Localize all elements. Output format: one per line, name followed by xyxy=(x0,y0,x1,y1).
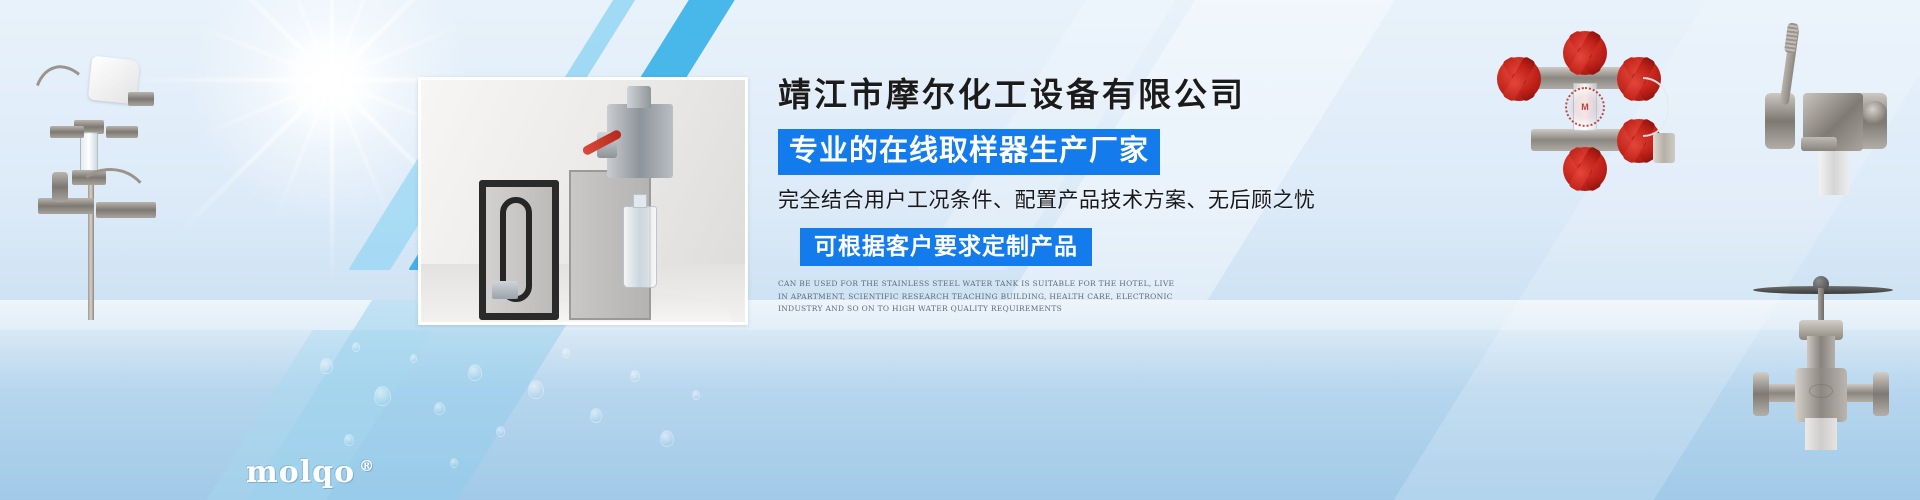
company-name: 靖江市摩尔化工设备有限公司 xyxy=(778,74,1398,115)
handwheel-icon xyxy=(1563,31,1607,75)
sample-bottle xyxy=(623,206,657,288)
equipment-gate-valve xyxy=(1745,250,1915,450)
body-emblem xyxy=(1809,384,1833,398)
certification-seal: M xyxy=(1565,87,1605,127)
english-description: CAN BE USED FOR THE STAINLESS STEEL WATE… xyxy=(778,278,1178,314)
registered-mark-icon: ® xyxy=(359,457,375,475)
equipment-left-sampler xyxy=(10,20,170,320)
cabinet-door xyxy=(479,180,559,320)
watermark-logo: molqo® xyxy=(246,455,375,490)
equipment-cross-valve: M xyxy=(1485,25,1685,175)
valve-bottom-plate xyxy=(1801,137,1837,151)
slogan-secondary-wrapper: 可根据客户要求定制产品 xyxy=(800,228,1398,266)
product-photo-image xyxy=(421,80,745,322)
watermark-text: molqo xyxy=(246,455,355,490)
banner-text-block: 靖江市摩尔化工设备有限公司 专业的在线取样器生产厂家 完全结合用户工况条件、配置… xyxy=(778,74,1398,315)
lever-grip xyxy=(1784,22,1799,53)
handwheel-icon xyxy=(1497,57,1541,101)
valve-flange xyxy=(1753,372,1769,416)
sample-bottle-neck xyxy=(633,194,647,208)
valve-block xyxy=(106,126,138,138)
door-latch xyxy=(492,281,518,299)
handwheel-icon xyxy=(1563,147,1607,191)
valve-flange xyxy=(1873,372,1889,416)
valve-block xyxy=(128,92,154,106)
promo-banner: 靖江市摩尔化工设备有限公司 专业的在线取样器生产厂家 完全结合用户工况条件、配置… xyxy=(0,0,1920,500)
product-photo[interactable] xyxy=(418,77,748,325)
slogan-secondary: 可根据客户要求定制产品 xyxy=(800,228,1092,266)
slogan-primary-wrapper: 专业的在线取样器生产厂家 xyxy=(778,129,1398,175)
drain-fitting xyxy=(1653,133,1675,163)
sub-headline: 完全结合用户工况条件、配置产品技术方案、无后顾之忧 xyxy=(778,188,1398,213)
sampler-valve-top xyxy=(627,86,651,108)
bypass-tube xyxy=(1643,77,1669,137)
valve-stem xyxy=(1819,147,1849,195)
flange-face xyxy=(1863,101,1887,125)
valve-outlet xyxy=(1805,418,1837,450)
slogan-primary: 专业的在线取样器生产厂家 xyxy=(778,129,1160,175)
equipment-lever-valve xyxy=(1745,15,1915,195)
